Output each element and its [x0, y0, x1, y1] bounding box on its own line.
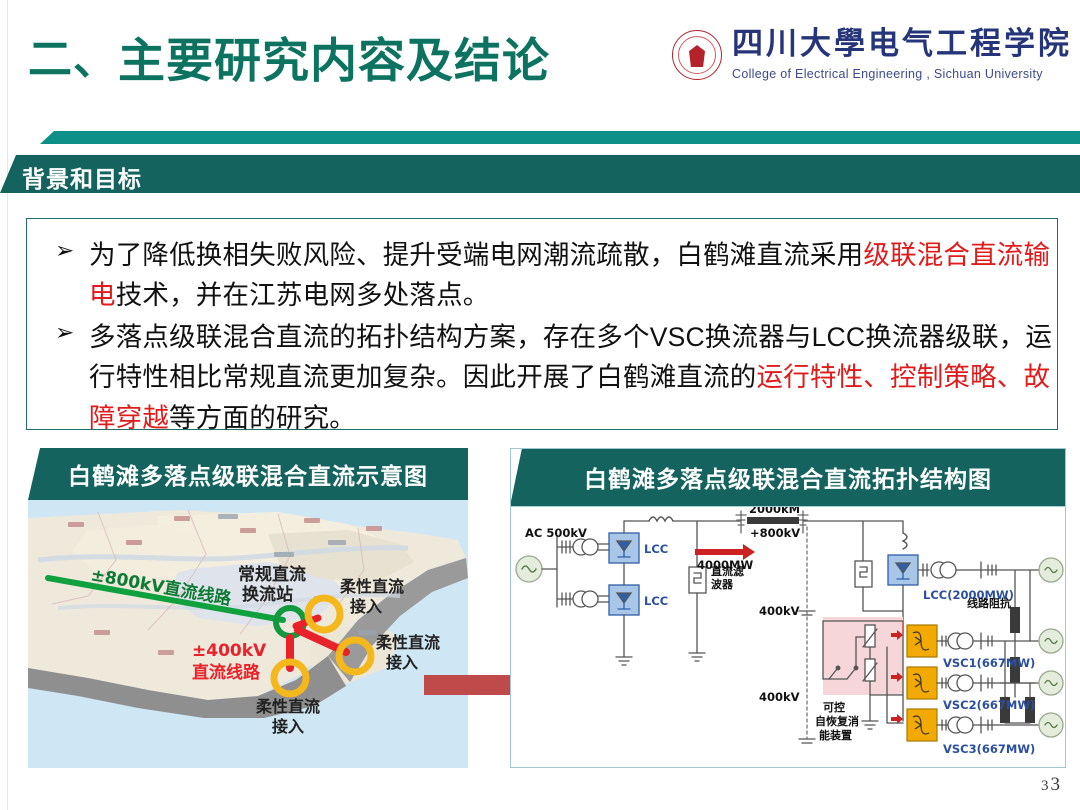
accent-bar: [40, 131, 1080, 144]
map-label-converter-2: 换流站: [242, 584, 293, 605]
label-energy-2: 自恢复消: [815, 714, 859, 728]
bullet-item-1: ➢ 为了降低换相失败风险、提升受端电网潮流疏散，白鹤滩直流采用级联混合直流输电技…: [27, 235, 1057, 316]
page-number-shadow: 3: [1041, 778, 1051, 794]
map-label-vsc-s-2: 接入: [272, 717, 304, 736]
label-pole-upper: 400kV: [759, 604, 800, 618]
label-lcc-top: LCC: [644, 542, 668, 556]
panel-schematic-map: 白鹤滩多落点级联混合直流示意图: [28, 448, 468, 768]
panel-topology-diagram: 白鹤滩多落点级联混合直流拓扑结构图: [510, 448, 1066, 768]
seal-pagoda-glyph: [689, 45, 705, 67]
slide-root: 二、 主要研究内容及结论 四川大學电气工程学院 College of Elect…: [0, 0, 1080, 810]
map-label-mvdc-2: 直流线路: [192, 662, 261, 683]
map-label-vsc-e-2: 接入: [386, 653, 418, 672]
panel-left-caption: 白鹤滩多落点级联混合直流示意图: [28, 448, 468, 500]
university-logo: 四川大學电气工程学院 College of Electrical Enginee…: [672, 28, 1074, 86]
label-line-voltage: +800kV: [750, 526, 800, 540]
map-label-vsc-s-1: 柔性直流: [255, 697, 320, 716]
label-vsc3: VSC3(667MW): [943, 742, 1035, 756]
label-line-power-2: 4000MW: [697, 558, 753, 572]
section-number: 二、: [28, 38, 118, 82]
circuit-svg: AC 500kV LCC LCC 直流滤 波器 2000kM 2000kM +8…: [511, 507, 1065, 767]
section-bar-label: 背景和目标: [22, 160, 142, 194]
svg-text:2000kM: 2000kM: [749, 507, 800, 516]
logo-english-name: College of Electrical Engineering , Sich…: [732, 67, 1043, 81]
map-label-mvdc-1: ±400kV: [192, 641, 267, 661]
logo-chinese-name: 四川大學电气工程学院: [732, 28, 1072, 61]
section-bar: [0, 155, 1080, 193]
content-box: ➢ 为了降低换相失败风险、提升受端电网潮流疏散，白鹤滩直流采用级联混合直流输电技…: [26, 218, 1058, 430]
bullet-arrow-icon: ➢: [55, 316, 74, 351]
label-vsc1: VSC1(667MW): [943, 656, 1035, 670]
label-line-impedance: 线路阻抗: [967, 596, 1011, 610]
map-label-vsc-ne-2: 接入: [350, 597, 382, 616]
sichuan-university-seal-icon: [672, 30, 722, 80]
label-lcc-bottom: LCC: [644, 594, 668, 608]
bullet-arrow-icon: ➢: [55, 234, 74, 269]
bullet-1-run-2: 技术，并在江苏电网多处落点。: [116, 280, 490, 310]
bullet-1-run-0: 为了降低换相失败风险、提升受端电网潮流疏散，白鹤滩直流采用: [89, 240, 863, 270]
panel-right-caption: 白鹤滩多落点级联混合直流拓扑结构图: [510, 448, 1066, 506]
topology-circuit: AC 500kV LCC LCC 直流滤 波器 2000kM 2000kM +8…: [510, 506, 1066, 768]
page-number-value: 3: [1051, 774, 1063, 795]
label-pole-lower: 400kV: [759, 690, 800, 704]
vsc-converters: [907, 625, 937, 741]
map-label-vsc-e-1: 柔性直流: [375, 633, 440, 652]
label-vsc2: VSC2(667MW): [943, 698, 1035, 712]
label-energy-3: 能装置: [819, 728, 852, 742]
map-label-vsc-ne-1: 柔性直流: [339, 577, 404, 596]
bullet-item-2: ➢ 多落点级联混合直流的拓扑结构方案，存在多个VSC换流器与LCC换流器级联，运…: [27, 317, 1057, 438]
label-ac-source: AC 500kV: [525, 526, 587, 540]
map-svg: ±800kV直流线路 常规直流 换流站 ±400kV 直流线路 柔性直流 接入 …: [28, 500, 468, 768]
map-label-converter-1: 常规直流: [238, 564, 306, 585]
page-number: 33: [1041, 774, 1062, 796]
page-title: 主要研究内容及结论: [118, 36, 550, 85]
china-east-map: ±800kV直流线路 常规直流 换流站 ±400kV 直流线路 柔性直流 接入 …: [28, 500, 468, 768]
label-energy-1: 可控: [823, 700, 845, 714]
left-rule: [7, 0, 8, 810]
bullet-2-run-2: 等方面的研究。: [169, 403, 356, 433]
label-dc-filter-2: 波器: [711, 577, 734, 591]
